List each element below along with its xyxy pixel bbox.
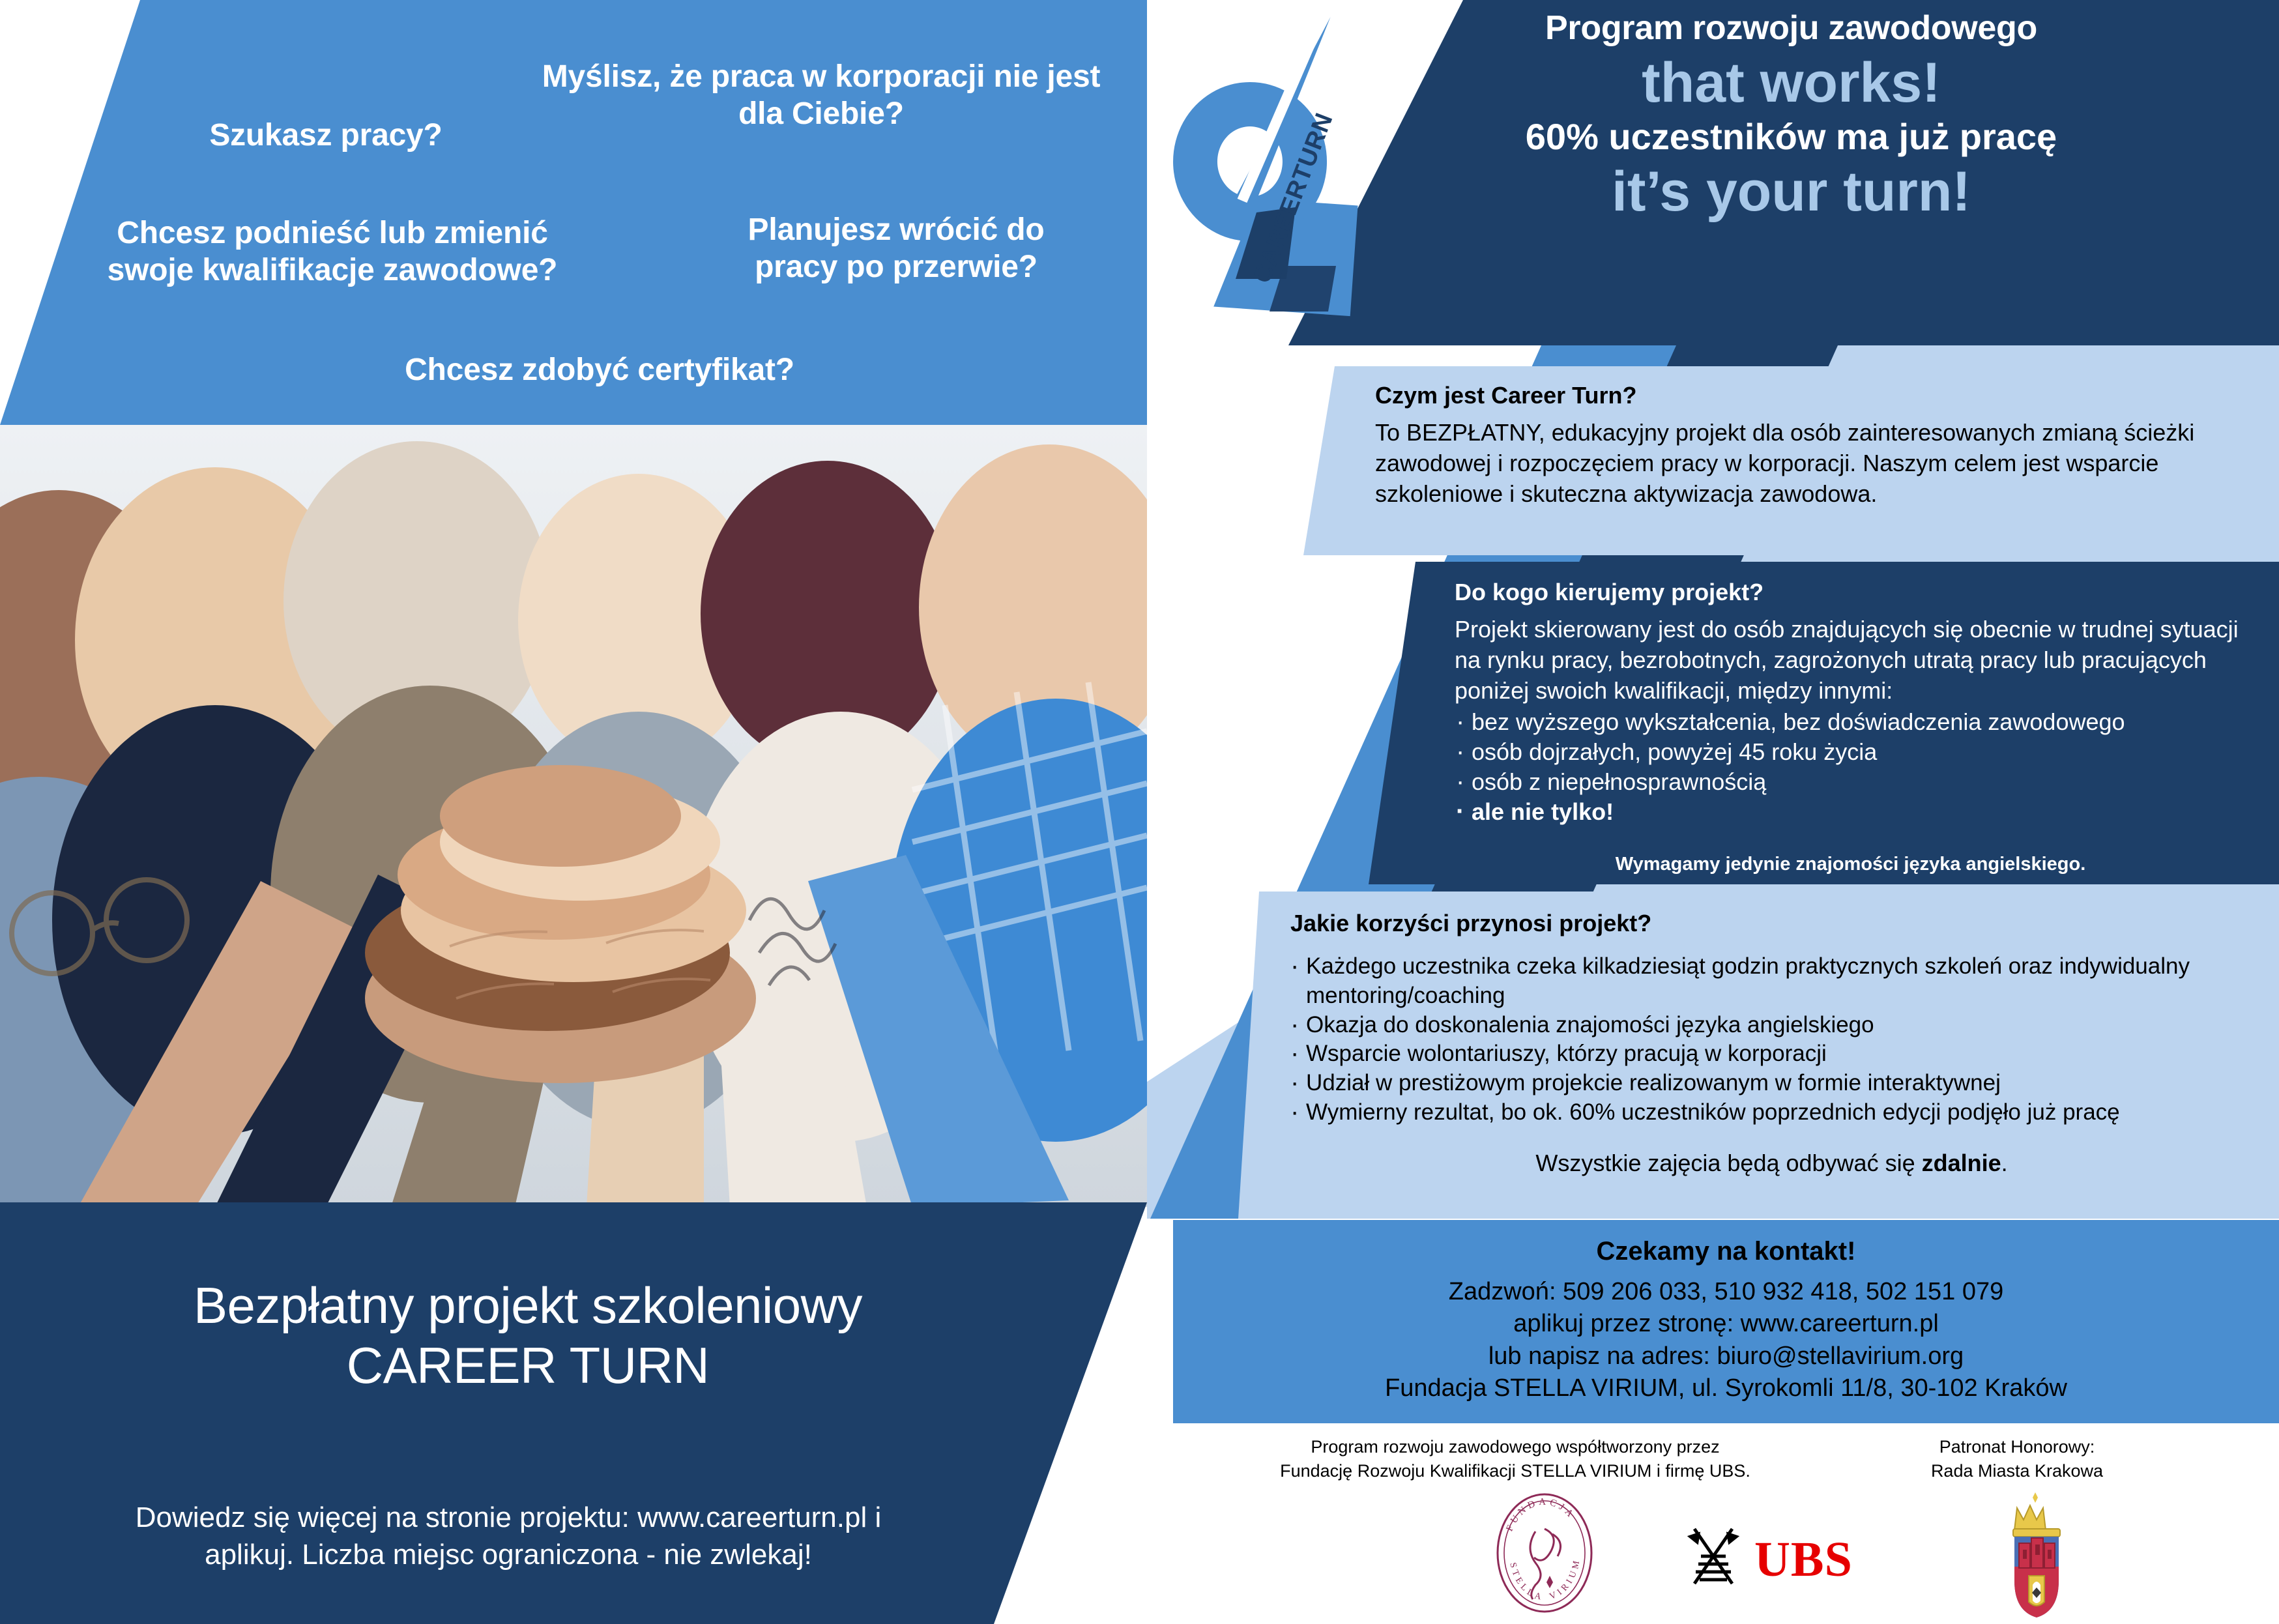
sv-word-fundacja: FUNDACJA [1504, 1497, 1577, 1533]
cta-sub-line1: Dowiedz się więcej na stronie projektu: … [0, 1499, 1017, 1536]
ubs-wordmark: UBS [1754, 1532, 1853, 1587]
block-benefits-note: Wszystkie zajęcia będą odbywać się zdaln… [1290, 1150, 2253, 1177]
bottom-cta-panel: Bezpłatny projekt szkoleniowy CAREER TUR… [0, 1202, 1147, 1624]
block-what-heading: Czym jest Career Turn? [1375, 381, 2240, 410]
headline-block: Program rozwoju zawodowego that works! 6… [1303, 9, 2279, 222]
list-item: bez wyższego wykształcenia, bez doświadc… [1455, 707, 2246, 737]
contact-address-line: Fundacja STELLA VIRIUM, ul. Syrokomli 11… [1186, 1372, 2266, 1404]
ubs-logo: UBS [1681, 1521, 1896, 1596]
block-target-group: Do kogo kierujemy projekt? Projekt skier… [1369, 562, 2279, 884]
footer-partners-text: Program rozwoju zawodowego współtworzony… [1186, 1435, 1844, 1483]
cta-subtitle: Dowiedz się więcej na stronie projektu: … [0, 1499, 1017, 1573]
benefits-note-prefix: Wszystkie zajęcia będą odbywać się [1535, 1150, 1921, 1176]
footer-patronage-text: Patronat Honorowy: Rada Miasta Krakowa [1864, 1435, 2170, 1483]
list-item: ale nie tylko! [1455, 797, 2246, 827]
list-item: Wymierny rezultat, bo ok. 60% uczestnikó… [1290, 1098, 2253, 1127]
headline-line-3: 60% uczestników ma już pracę [1303, 116, 2279, 158]
footer-left-line-2: Fundację Rozwoju Kwalifikacji STELLA VIR… [1186, 1459, 1844, 1483]
block-who-note: Wymagamy jedynie znajomości języka angie… [1455, 854, 2246, 875]
block-who-body: Projekt skierowany jest do osób znajdują… [1455, 615, 2246, 706]
footer: Program rozwoju zawodowego współtworzony… [1173, 1431, 2279, 1624]
cta-title: Bezpłatny projekt szkoleniowy CAREER TUR… [0, 1275, 1056, 1395]
contact-email-line[interactable]: lub napisz na adres: biuro@stellavirium.… [1186, 1341, 2266, 1372]
contact-website-line[interactable]: aplikuj przez stronę: www.careerturn.pl [1186, 1308, 2266, 1340]
list-item: Każdego uczestnika czeka kilkadziesiąt g… [1290, 952, 2253, 1011]
block-what-body: To BEZPŁATNY, edukacyjny projekt dla osó… [1375, 418, 2240, 509]
list-item: Wsparcie wolontariuszy, którzy pracują w… [1290, 1039, 2253, 1069]
cta-title-line1: Bezpłatny projekt szkoleniowy [0, 1275, 1056, 1335]
question-1: Szukasz pracy? [143, 117, 508, 154]
headline-line-1: Program rozwoju zawodowego [1303, 9, 2279, 48]
block-what-is-career-turn: Czym jest Career Turn? To BEZPŁATNY, edu… [1303, 366, 2279, 555]
block-benefits-heading: Jakie korzyści przynosi projekt? [1290, 908, 2253, 938]
footer-right-line-2: Rada Miasta Krakowa [1864, 1459, 2170, 1483]
question-3: Chcesz podnieść lub zmienić swoje kwalif… [85, 215, 580, 289]
list-item: osób dojrzałych, powyżej 45 roku życia [1455, 737, 2246, 767]
block-benefits: Jakie korzyści przynosi projekt? Każdego… [1238, 892, 2279, 1219]
list-item: Okazja do doskonalenia znajomości języka… [1290, 1011, 2253, 1040]
benefits-list: Każdego uczestnika czeka kilkadziesiąt g… [1290, 952, 2253, 1127]
questions-panel: Szukasz pracy? Myślisz, że praca w korpo… [0, 0, 1147, 425]
krakow-coat-of-arms [1997, 1490, 2076, 1623]
footer-left-line-1: Program rozwoju zawodowego współtworzony… [1186, 1435, 1844, 1459]
right-column: Program rozwoju zawodowego that works! 6… [1147, 0, 2279, 1624]
contact-panel: Czekamy na kontakt! Zadzwoń: 509 206 033… [1173, 1220, 2279, 1423]
footer-logo-row: FUNDACJA STELLA VIRIUM [1199, 1490, 1844, 1614]
question-2: Myślisz, że praca w korporacji nie jest … [541, 59, 1101, 132]
list-item: Udział w prestiżowym projekcie realizowa… [1290, 1069, 2253, 1098]
headline-line-2: that works! [1303, 52, 2279, 114]
svg-text:FUNDACJA: FUNDACJA [1504, 1497, 1577, 1533]
target-group-list: bez wyższego wykształcenia, bez doświadc… [1455, 707, 2246, 826]
question-4: Planujesz wrócić do pracy po przerwie? [710, 212, 1082, 285]
benefits-note-suffix: . [2001, 1150, 2008, 1176]
list-item: osób z niepełnosprawnością [1455, 767, 2246, 797]
left-column: Szukasz pracy? Myślisz, że praca w korpo… [0, 0, 1147, 1624]
contact-title: Czekamy na kontakt! [1186, 1234, 2266, 1268]
contact-phone-line: Zadzwoń: 509 206 033, 510 932 418, 502 1… [1186, 1276, 2266, 1308]
cta-sub-line2: aplikuj. Liczba miejsc ograniczona - nie… [0, 1536, 1017, 1573]
stella-virium-logo: FUNDACJA STELLA VIRIUM [1479, 1491, 1610, 1618]
block-who-heading: Do kogo kierujemy projekt? [1455, 577, 2246, 607]
hero-photo [0, 425, 1147, 1207]
question-5: Chcesz zdobyć certyfikat? [306, 352, 893, 389]
headline-line-4: it’s your turn! [1303, 161, 2279, 223]
careerturn-logo: CAREERTURN [1165, 5, 1367, 338]
cta-title-line2: CAREER TURN [0, 1335, 1056, 1395]
benefits-note-strong: zdalnie [1922, 1150, 2001, 1176]
footer-right-line-1: Patronat Honorowy: [1864, 1435, 2170, 1459]
contact-lines: Zadzwoń: 509 206 033, 510 932 418, 502 1… [1186, 1276, 2266, 1405]
